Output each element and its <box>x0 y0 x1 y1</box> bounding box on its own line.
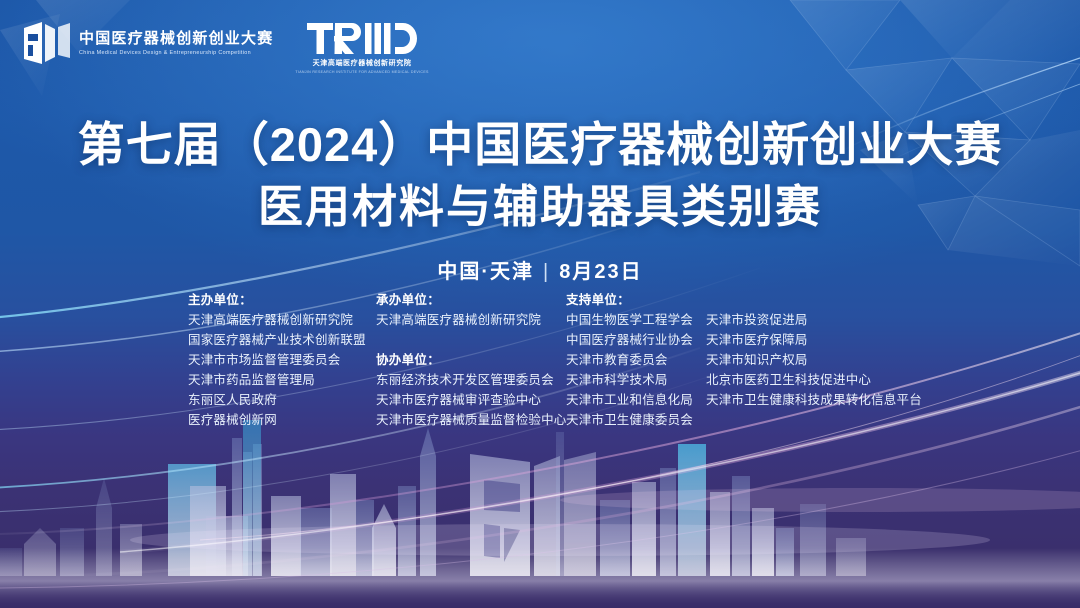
supporter-column-b: 天津市投资促进局 天津市医疗保障局 天津市知识产权局 北京市医药卫生科技促进中心… <box>706 290 916 410</box>
title-line-2: 医用材料与辅助器具类别赛 <box>0 178 1080 236</box>
supporter-item: 中国医疗器械行业协会 <box>566 330 706 350</box>
coorganizer-item: 东丽经济技术开发区管理委员会 <box>376 370 566 390</box>
coorganizer-heading: 协办单位： <box>376 350 566 370</box>
institute-logo-en: TIANJIN RESEARCH INSTITUTE FOR ADVANCED … <box>295 70 428 74</box>
institute-logo: 天津高端医疗器械创新研究院 TIANJIN RESEARCH INSTITUTE… <box>295 22 428 74</box>
event-datebar: 中国·天津|8月23日 <box>0 255 1080 284</box>
organizations-block: 主办单位： 天津高端医疗器械创新研究院 国家医疗器械产业技术创新联盟 天津市市场… <box>188 290 916 430</box>
competition-logo-cn: 中国医疗器械创新创业大赛 <box>79 30 273 47</box>
supporter-heading: 支持单位： <box>566 290 706 310</box>
event-date: 8月23日 <box>559 261 642 283</box>
poster-canvas: 中国医疗器械创新创业大赛 China Medical Devices Desig… <box>0 0 1080 608</box>
coorganizer-item: 天津市医疗器械审评查验中心 <box>376 390 566 410</box>
coorganizer-item: 天津市医疗器械质量监督检验中心 <box>376 410 566 430</box>
column-spacer <box>706 290 916 310</box>
organizer-item: 国家医疗器械产业技术创新联盟 <box>188 330 376 350</box>
undertaker-item: 天津高端医疗器械创新研究院 <box>376 310 566 330</box>
supporter-item: 天津市投资促进局 <box>706 310 916 330</box>
city-skyline-silhouette <box>0 408 1080 608</box>
header-logos: 中国医疗器械创新创业大赛 China Medical Devices Desig… <box>24 22 429 74</box>
organizer-heading: 主办单位： <box>188 290 376 310</box>
supporter-item: 天津市工业和信息化局 <box>566 390 706 410</box>
supporter-column-a: 支持单位： 中国生物医学工程学会 中国医疗器械行业协会 天津市教育委员会 天津市… <box>566 290 706 430</box>
title-line-1: 第七届（2024）中国医疗器械创新创业大赛 <box>0 116 1080 174</box>
supporter-item: 天津市卫生健康委员会 <box>566 410 706 430</box>
organizer-item: 天津市市场监督管理委员会 <box>188 350 376 370</box>
institute-logo-cn: 天津高端医疗器械创新研究院 <box>313 58 412 68</box>
organizer-column: 主办单位： 天津高端医疗器械创新研究院 国家医疗器械产业技术创新联盟 天津市市场… <box>188 290 376 430</box>
competition-logo-en: China Medical Devices Design & Entrepren… <box>79 50 273 56</box>
organizer-item: 天津高端医疗器械创新研究院 <box>188 310 376 330</box>
supporter-item: 中国生物医学工程学会 <box>566 310 706 330</box>
supporter-item: 天津市科学技术局 <box>566 370 706 390</box>
supporter-item: 天津市知识产权局 <box>706 350 916 370</box>
column-spacer <box>376 330 566 350</box>
undertaker-column: 承办单位： 天津高端医疗器械创新研究院 协办单位： 东丽经济技术开发区管理委员会… <box>376 290 566 430</box>
supporter-item: 北京市医药卫生科技促进中心 <box>706 370 916 390</box>
competition-logo: 中国医疗器械创新创业大赛 China Medical Devices Desig… <box>24 22 273 64</box>
organizer-item: 医疗器械创新网 <box>188 410 376 430</box>
supporter-item: 天津市教育委员会 <box>566 350 706 370</box>
supporter-item: 天津市卫生健康科技成果转化信息平台 <box>706 390 916 410</box>
open-door-mark-icon <box>24 22 70 64</box>
poster-title: 第七届（2024）中国医疗器械创新创业大赛 医用材料与辅助器具类别赛 <box>0 116 1080 236</box>
event-location: 中国·天津 <box>437 261 534 283</box>
organizer-item: 天津市药品监督管理局 <box>188 370 376 390</box>
triid-wordmark-icon <box>307 23 417 54</box>
undertaker-heading: 承办单位： <box>376 290 566 310</box>
datebar-separator: | <box>543 261 550 283</box>
organizer-item: 东丽区人民政府 <box>188 390 376 410</box>
supporter-item: 天津市医疗保障局 <box>706 330 916 350</box>
